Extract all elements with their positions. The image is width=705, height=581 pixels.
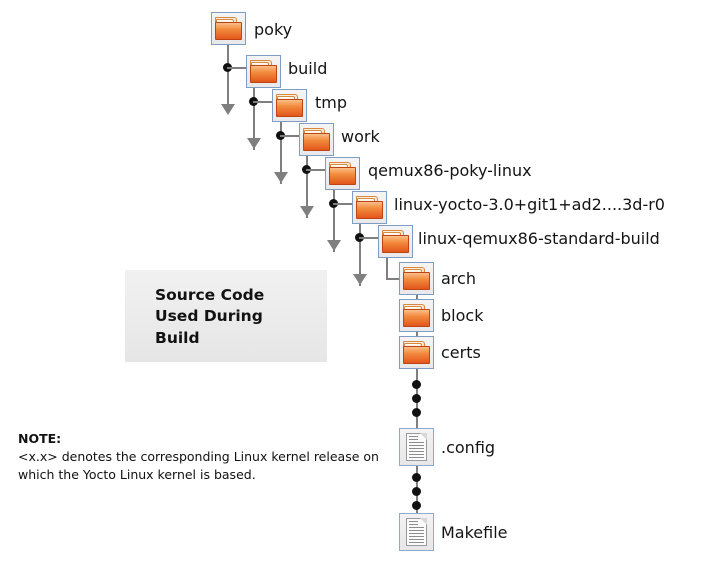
note-body: <x.x> denotes the corresponding Linux ke… — [18, 448, 390, 484]
ellipsis-dot-2 — [412, 394, 421, 403]
connector-hline-linuxyocto-standardbuild — [359, 237, 380, 239]
folder-label-linux-yocto: linux-yocto-3.0+git1+ad2....3d-r0 — [394, 197, 665, 213]
file-icon-makefile[interactable] — [399, 513, 434, 551]
source-code-callout: Source Code Used During Build — [125, 270, 327, 362]
connector-hline-tmp-work — [280, 135, 301, 137]
folder-icon-linux-yocto[interactable] — [352, 191, 387, 224]
folder-label-arch: arch — [441, 271, 476, 287]
folder-label-work: work — [341, 129, 380, 145]
folder-icon — [403, 303, 430, 328]
folder-label-qemux86-poky-linux: qemux86-poky-linux — [368, 163, 532, 179]
folder-icon — [382, 229, 409, 254]
note-title: NOTE: — [18, 430, 390, 448]
arrowhead-poky — [221, 104, 235, 115]
connector-hline-qemux86-linuxyocto — [333, 203, 354, 205]
file-label-makefile: Makefile — [441, 525, 508, 541]
folder-icon-block[interactable] — [399, 299, 434, 332]
folder-icon-arch[interactable] — [399, 262, 434, 295]
connector-vline-poky — [227, 45, 229, 107]
folder-icon-certs[interactable] — [399, 336, 434, 369]
arrowhead-work — [300, 206, 314, 217]
folder-icon-qemux86-poky-linux[interactable] — [325, 157, 360, 190]
arrowhead-build — [247, 138, 261, 149]
folder-icon — [403, 340, 430, 365]
folder-icon — [250, 59, 277, 84]
connector-hline-work-qemux86 — [306, 169, 327, 171]
connector-hline-build-tmp — [253, 101, 274, 103]
document-icon — [406, 433, 427, 461]
ellipsis-dot-1 — [412, 380, 421, 389]
ellipsis-dot-6 — [412, 501, 421, 510]
folder-label-block: block — [441, 308, 483, 324]
folder-label-tmp: tmp — [315, 95, 347, 111]
ellipsis-dot-3 — [412, 408, 421, 417]
file-label-config: .config — [441, 440, 495, 456]
ellipsis-dot-4 — [412, 473, 421, 482]
folder-icon — [303, 127, 330, 152]
arrowhead-linuxyocto — [353, 274, 367, 285]
folder-label-build: build — [288, 61, 327, 77]
file-icon-config[interactable] — [399, 428, 434, 466]
connector-vline-standardbuild — [386, 258, 388, 280]
folder-icon-tmp[interactable] — [272, 89, 307, 122]
ellipsis-dot-5 — [412, 487, 421, 496]
folder-icon — [329, 161, 356, 186]
folder-icon — [215, 16, 242, 41]
folder-icon-poky[interactable] — [211, 12, 246, 45]
folder-icon — [403, 266, 430, 291]
folder-icon — [356, 195, 383, 220]
note-block: NOTE: <x.x> denotes the corresponding Li… — [18, 430, 390, 484]
folder-icon-work[interactable] — [299, 123, 334, 156]
arrowhead-qemux86 — [327, 240, 341, 251]
folder-label-linux-qemux86-standard-build: linux-qemux86-standard-build — [418, 231, 660, 247]
folder-label-poky: poky — [254, 22, 292, 38]
folder-icon-linux-qemux86-standard-build[interactable] — [378, 225, 413, 258]
folder-label-certs: certs — [441, 345, 481, 361]
folder-icon-build[interactable] — [246, 55, 281, 88]
document-icon — [406, 518, 427, 546]
folder-icon — [276, 93, 303, 118]
arrowhead-tmp — [274, 172, 288, 183]
connector-hline-poky-build — [227, 67, 248, 69]
source-code-callout-text: Source Code Used During Build — [155, 285, 264, 349]
kernel-source-directory-diagram: Source Code Used During Build poky build… — [0, 0, 705, 581]
